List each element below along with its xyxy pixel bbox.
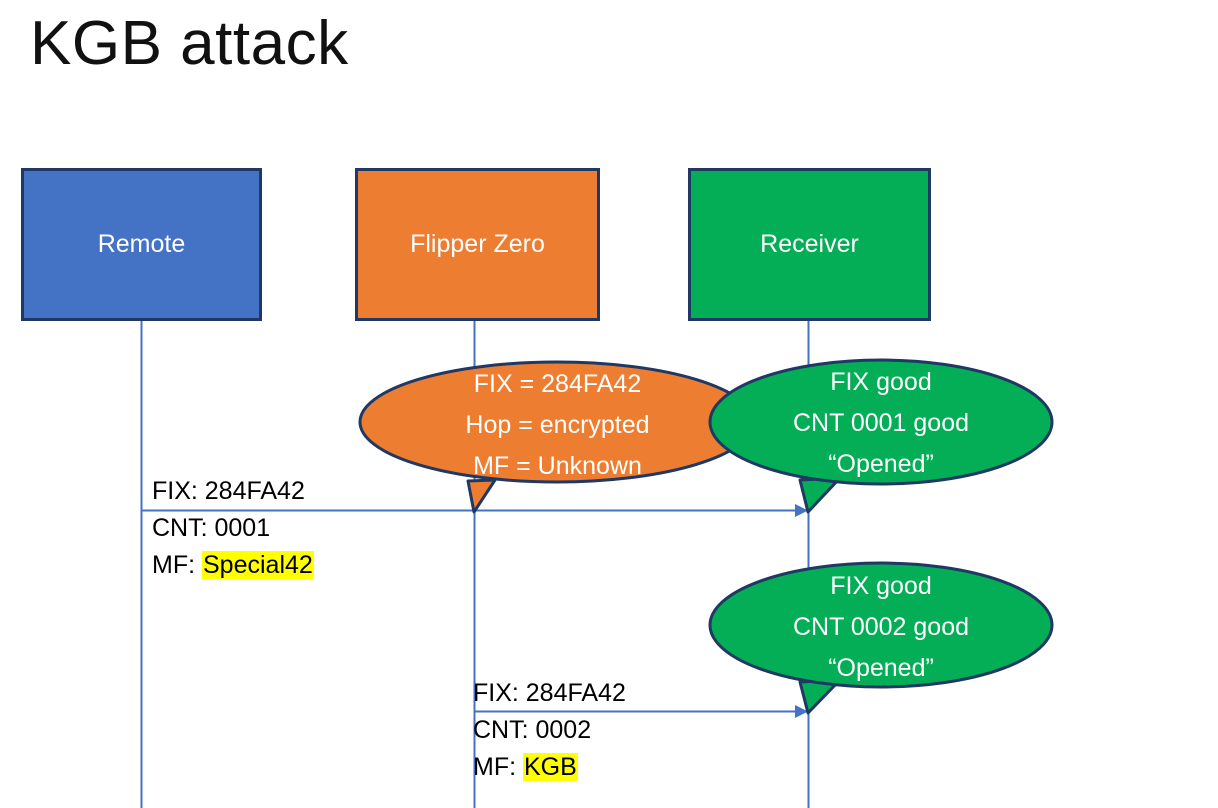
actor-box-flipper[interactable]: Flipper Zero — [355, 168, 600, 321]
slide-canvas: KGB attack — [0, 0, 1218, 808]
callout-receiver-msg1 — [710, 360, 1052, 512]
message-1-line-mf: MF: Special42 — [152, 547, 314, 584]
actor-box-remote[interactable]: Remote — [21, 168, 262, 321]
actor-label-remote: Remote — [98, 231, 186, 259]
message-1-mf-prefix: MF: — [152, 551, 202, 579]
message-2-line-fix: FIX: 284FA42 — [473, 675, 626, 712]
message-1-line-fix: FIX: 284FA42 — [152, 473, 314, 510]
message-2-label: FIX: 284FA42 CNT: 0002 MF: KGB — [473, 675, 626, 786]
message-1-mf-highlight: Special42 — [202, 551, 314, 579]
actor-box-receiver[interactable]: Receiver — [688, 168, 931, 321]
callout-receiver-msg2 — [710, 563, 1052, 713]
message-2-line-cnt: CNT: 0002 — [473, 712, 626, 749]
message-2-line-mf: MF: KGB — [473, 749, 626, 786]
actor-label-flipper: Flipper Zero — [410, 231, 545, 259]
callout-flipper-capture — [360, 362, 754, 512]
message-1-line-cnt: CNT: 0001 — [152, 510, 314, 547]
message-2-mf-highlight: KGB — [523, 753, 578, 781]
message-1-label: FIX: 284FA42 CNT: 0001 MF: Special42 — [152, 473, 314, 584]
message-2-mf-prefix: MF: — [473, 753, 523, 781]
actor-label-receiver: Receiver — [760, 231, 859, 259]
